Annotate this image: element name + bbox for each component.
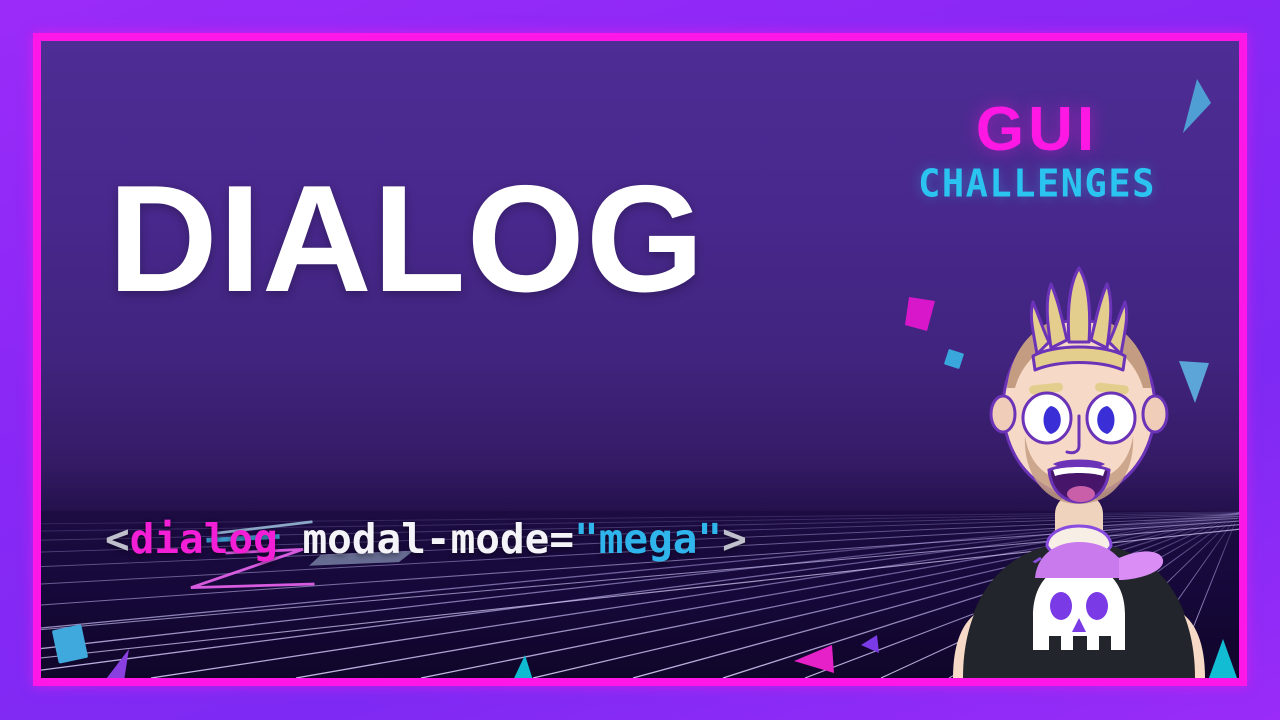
avatar-illustration	[929, 258, 1229, 678]
brand-logo: GUI CHALLENGES	[887, 99, 1187, 207]
code-open-bracket: <	[105, 515, 130, 563]
code-attribute-name: modal-mode=	[278, 515, 574, 563]
code-attribute-value: "mega"	[574, 515, 722, 563]
mohawk-hair	[1031, 268, 1126, 370]
slide-inner-background: DIALOG <dialog modal-mode="mega"> <dialo…	[41, 41, 1239, 678]
code-sample: <dialog modal-mode="mega"> <dialog modal…	[105, 403, 747, 678]
logo-gui-text: GUI	[887, 99, 1187, 161]
triangle-magenta-bottom-right-icon	[786, 637, 846, 678]
triangle-blue-top-right-icon	[1159, 59, 1219, 139]
magenta-frame-border: DIALOG <dialog modal-mode="mega"> <dialo…	[33, 33, 1247, 686]
code-tag-name: dialog	[130, 515, 278, 563]
page-title: DIALOG	[108, 163, 705, 315]
code-line-mini: <dialog modal-mode="mini">	[105, 676, 747, 678]
avatar	[929, 258, 1229, 678]
square-blue-bottom-left-icon	[47, 619, 97, 671]
code-close-bracket: >	[722, 515, 747, 563]
triangle-purple-bottom-left-icon	[91, 639, 147, 678]
code-line-mega: <dialog modal-mode="mega">	[105, 512, 747, 567]
logo-challenges-text: CHALLENGES	[887, 160, 1187, 208]
triangle-cyan-bottom-center-icon	[499, 647, 551, 678]
triangle-purple-bottom-right-icon	[851, 631, 885, 665]
slide-canvas: DIALOG <dialog modal-mode="mega"> <dialo…	[0, 0, 1280, 720]
